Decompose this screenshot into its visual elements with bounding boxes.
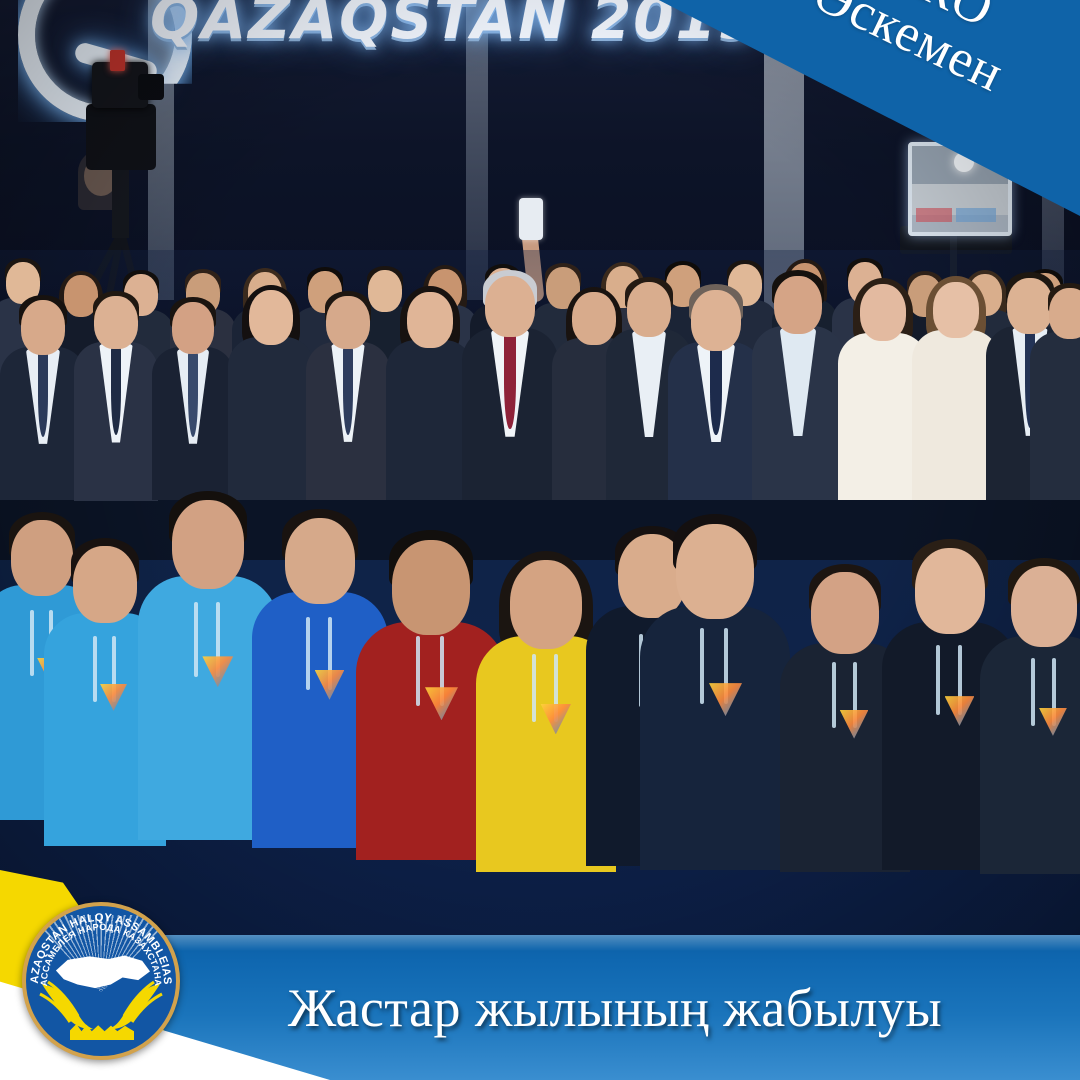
crowd-person-head (21, 300, 66, 355)
hoodie-drawstring (832, 662, 836, 728)
event-photo: QAZAQSTAN 2019 (0, 0, 1080, 940)
assembly-emblem: QAZAQSTAN HALQY ASSAMBLEIASY АССАМБЛЕЯ Н… (22, 902, 180, 1060)
crowd-person (752, 276, 844, 500)
camera-lens-icon (138, 74, 164, 100)
crowd-person-head (774, 276, 822, 334)
crowd-person-head (1049, 288, 1080, 339)
crowd-person-head (627, 282, 672, 337)
crowd-person-head (485, 276, 535, 337)
crowd-person-tie (111, 348, 121, 436)
crowd-person-head (1011, 566, 1078, 647)
stage-sign-text: QAZAQSTAN 2019 (150, 0, 760, 52)
crowd-person (386, 292, 474, 500)
hoodie-drawstring (936, 645, 940, 716)
crowd-person (640, 524, 790, 870)
crowd-person-head (172, 500, 245, 589)
crowd-person-torso (228, 337, 314, 500)
crowd-person-head (407, 292, 453, 348)
crowd-person-tie (343, 348, 353, 435)
crowd-person (152, 302, 234, 500)
crowd-person-head (285, 518, 356, 604)
crowd-person-head (249, 290, 294, 345)
crowd-person (668, 290, 764, 500)
crowd-person-tie (38, 353, 48, 437)
crowd-person-head (860, 284, 907, 341)
crowd-person (1030, 288, 1080, 500)
crowd-person-head (73, 546, 136, 623)
crowd-person (462, 276, 558, 500)
hoodie-drawstring (416, 636, 420, 706)
camera-tally-light-icon (110, 50, 125, 71)
tripod-column (112, 168, 129, 238)
crowd-person-head (811, 572, 879, 654)
crowd-person-torso (1030, 332, 1080, 500)
hoodie-drawstring (532, 654, 536, 723)
emblem-ring-text: QAZAQSTAN HALQY ASSAMBLEIASY АССАМБЛЕЯ Н… (26, 906, 176, 1056)
crowd-person-torso (640, 606, 790, 870)
crowd-person-head (172, 302, 215, 354)
crowd-person-tie (188, 353, 198, 437)
poster-root: QAZAQSTAN 2019 (0, 0, 1080, 1080)
crowd-person-tie (504, 334, 516, 428)
hoodie-drawstring (30, 610, 34, 676)
crowd-person-head (326, 296, 370, 349)
crowd-person-head (392, 540, 470, 635)
crowd-person-head (933, 282, 979, 338)
hoodie-drawstring (700, 628, 704, 704)
crowd-person-head (510, 560, 583, 649)
hoodie-drawstring (306, 617, 310, 690)
crowd-person-torso (980, 636, 1080, 874)
smartphone-icon (519, 198, 543, 240)
hoodie-drawstring (93, 636, 97, 702)
camera-hood (86, 104, 156, 170)
crowd-person-torso (386, 340, 474, 500)
crowd-person-head (915, 548, 986, 634)
crowd-person (74, 296, 158, 501)
crowd-person-head (691, 290, 741, 351)
crowd-person (228, 290, 314, 500)
crowd-person (306, 296, 390, 500)
crowd-person-head (94, 296, 138, 349)
crowd-person-tie (710, 348, 722, 435)
crowd-person (980, 566, 1080, 874)
hoodie-drawstring (1031, 658, 1035, 726)
hoodie-drawstring (194, 602, 198, 677)
crowd-person-head (676, 524, 754, 619)
